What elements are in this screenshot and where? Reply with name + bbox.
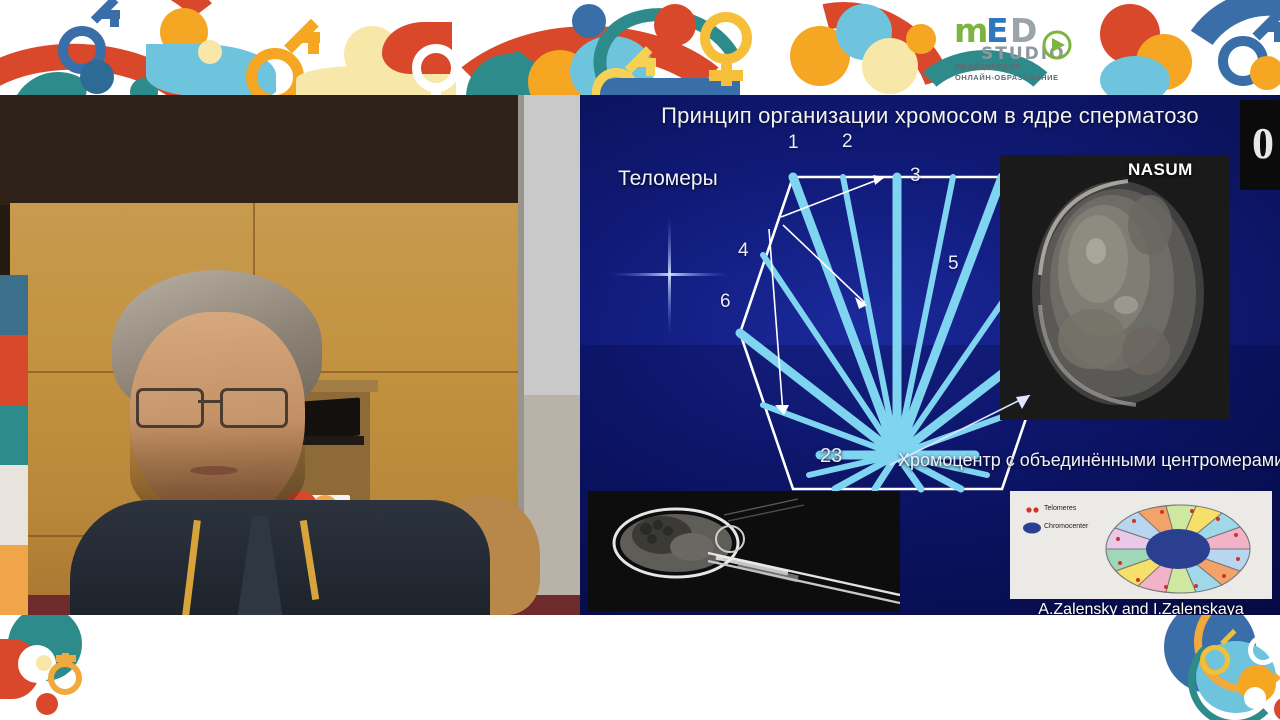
telomeres-label: Теломеры [618, 167, 718, 191]
vertex-number-2: 2 [842, 131, 853, 153]
male-symbol-icon [1200, 637, 1240, 677]
slide-title: Принцип организации хромосом в ядре спер… [580, 103, 1280, 129]
eyeglass-right-lens [220, 388, 288, 428]
med-studio-subtitle-line1: МЕДИЦИНСКОЕ [955, 62, 1021, 71]
chromocenter-pointer-arrow [880, 395, 1080, 505]
left-edge-banner-strip [0, 275, 28, 615]
foreground-attendee [70, 270, 490, 615]
med-studio-logo: m E D STUDIO МЕДИЦИНСКОЕ ОНЛАЙН-ОБРАЗОВА… [952, 12, 1102, 82]
vertex-number-6: 6 [720, 291, 731, 313]
slide-author-credit: A.Zalensky and I.Zalenskaya [1010, 601, 1272, 615]
female-symbol-icon [1248, 623, 1280, 671]
conference-video-feed[interactable]: РАРЧ [0, 95, 580, 615]
female-symbol-icon [700, 12, 766, 84]
attendee-suit [70, 500, 490, 615]
vertex-number-4: 4 [738, 240, 749, 262]
vertex-number-3: 3 [910, 165, 921, 187]
orange-dot [1250, 56, 1280, 90]
cream-dot [198, 40, 222, 64]
eyeglass-left-lens [136, 388, 204, 428]
eyeglass-bridge [198, 400, 220, 403]
female-symbol-icon [412, 44, 474, 95]
vertex-number-5: 5 [948, 253, 959, 275]
presentation-slide[interactable]: Принцип организации хромосом в ядре спер… [580, 95, 1280, 615]
female-symbol-icon [48, 653, 92, 703]
hall-upper-wall [0, 95, 580, 205]
blue-dot [80, 60, 114, 94]
sperm-cell-micrograph [588, 491, 900, 611]
sparkle-icon [610, 215, 730, 335]
broadcast-screen: m E D STUDIO МЕДИЦИНСКОЕ ОНЛАЙН-ОБРАЗОВА… [0, 0, 1280, 720]
med-studio-wordmark: m E D STUDIO [952, 12, 1102, 82]
top-decorative-banner: m E D STUDIO МЕДИЦИНСКОЕ ОНЛАЙН-ОБРАЗОВА… [0, 0, 1280, 95]
bottom-conference-banner: РАРЧ XXIX ЕЖЕГОДНАЯ МЕЖДУНАРОДНАЯ КОНФЕР… [0, 615, 1280, 720]
red-circle [654, 4, 696, 46]
legend-label-chromocenter: Chromocenter [1044, 523, 1088, 530]
nucleus-micrograph [1000, 155, 1230, 420]
med-studio-subtitle-line2: ОНЛАЙН-ОБРАЗОВАНИЕ [955, 73, 1059, 82]
blue-dot [572, 4, 606, 38]
teal-dot [506, 52, 528, 74]
attendee-mouth [190, 466, 238, 475]
white-circle [1244, 687, 1266, 709]
chromosome-count-label: 23 [820, 445, 842, 468]
legend-label-telomeres: Telomeres [1044, 505, 1076, 512]
schematic-legend-box: Telomeres Chromocenter [1010, 491, 1272, 599]
vertex-number-1: 1 [788, 132, 799, 154]
nucleus-watermark-label: NASUM [1128, 160, 1193, 180]
counter-digit: 0 [1252, 118, 1274, 169]
orange-dot [906, 24, 936, 54]
